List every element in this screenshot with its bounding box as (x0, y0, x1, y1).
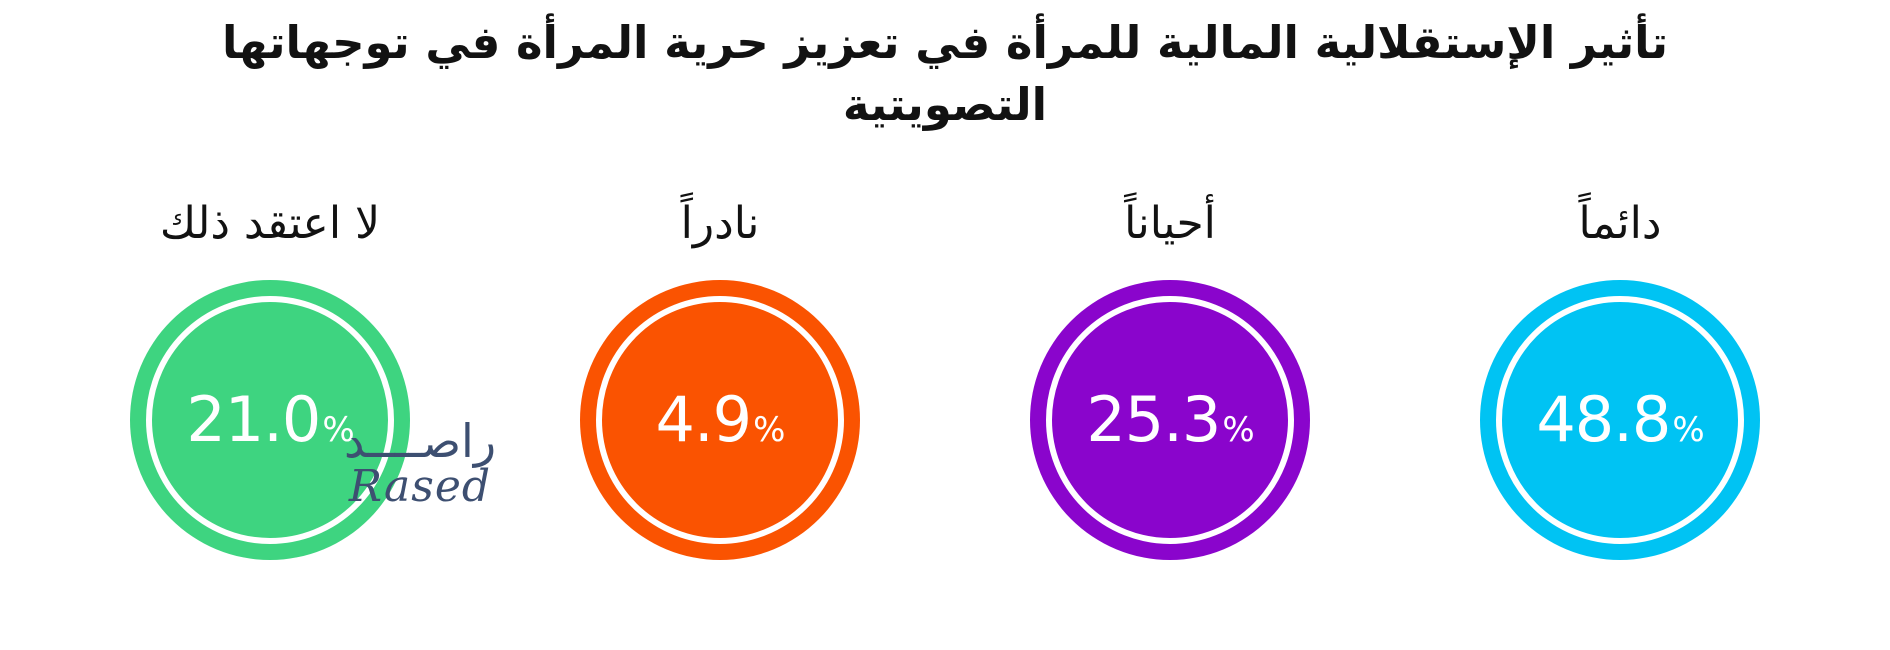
percentage-value: 21.0% (186, 389, 353, 451)
percent-sign: % (753, 413, 784, 447)
percentage-number: 25.3 (1086, 389, 1220, 451)
percent-sign: % (1672, 413, 1703, 447)
percentage-circle[interactable]: 25.3% (1030, 280, 1310, 560)
percentage-circle[interactable]: 21.0% (130, 280, 410, 560)
percent-sign: % (322, 413, 353, 447)
category-item-ahyanan: أحياناً 25.3% (970, 196, 1370, 560)
category-label: لا اعتقد ذلك (160, 196, 380, 256)
percentage-circle[interactable]: 4.9% (580, 280, 860, 560)
chart-title-line-1: تأثير الإستقلالية المالية للمرأة في تعزي… (0, 12, 1890, 74)
percentage-value: 25.3% (1086, 389, 1253, 451)
percentage-number: 4.9 (656, 389, 752, 451)
percentage-number: 21.0 (186, 389, 320, 451)
percentage-number: 48.8 (1536, 389, 1670, 451)
donut-wrapper: 4.9% (580, 280, 860, 560)
category-label: أحياناً (1124, 196, 1216, 256)
percentage-circle[interactable]: 48.8% (1480, 280, 1760, 560)
infographic-canvas: تأثير الإستقلالية المالية للمرأة في تعزي… (0, 0, 1890, 650)
percentage-circle-row: لا اعتقد ذلك 21.0% نادراً 4.9% (0, 196, 1890, 650)
category-label: دائماً (1579, 196, 1662, 256)
percent-sign: % (1222, 413, 1253, 447)
donut-wrapper: 21.0% (130, 280, 410, 560)
percentage-value: 4.9% (656, 389, 785, 451)
category-item-la-aataqid-dhalik: لا اعتقد ذلك 21.0% (70, 196, 470, 560)
chart-title-line-2: التصويتية (0, 74, 1890, 136)
chart-title: تأثير الإستقلالية المالية للمرأة في تعزي… (0, 12, 1890, 136)
donut-wrapper: 48.8% (1480, 280, 1760, 560)
donut-wrapper: 25.3% (1030, 280, 1310, 560)
category-item-daiman: دائماً 48.8% (1420, 196, 1820, 560)
percentage-value: 48.8% (1536, 389, 1703, 451)
category-item-nadiran: نادراً 4.9% (520, 196, 920, 560)
category-label: نادراً (681, 196, 760, 256)
